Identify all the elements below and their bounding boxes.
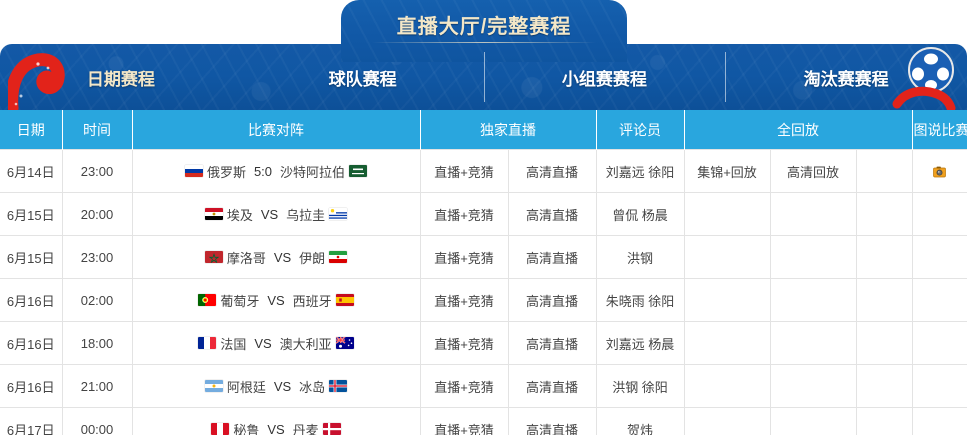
match-replay-extra-cell <box>856 193 912 236</box>
tab-team-schedule[interactable]: 球队赛程 <box>242 44 484 110</box>
match-time-cell: 23:00 <box>62 236 132 279</box>
match-live-betting-cell[interactable]: 直播+竞猜 <box>420 236 508 279</box>
match-replay-extra-cell <box>856 322 912 365</box>
column-header-full-replay: 全回放 <box>684 110 912 150</box>
table-row: 6月17日00:00秘鲁VS丹麦直播+竞猜高清直播贺炜 <box>0 408 967 435</box>
match-matchup-cell[interactable]: 阿根廷VS冰岛 <box>132 365 420 408</box>
match-hd-live-cell[interactable]: 高清直播 <box>508 408 596 435</box>
column-header-exclusive-live: 独家直播 <box>420 110 596 150</box>
match-live-betting-cell[interactable]: 直播+竞猜 <box>420 279 508 322</box>
match-commentators-cell: 刘嘉远 杨晨 <box>596 322 684 365</box>
match-vs-separator: VS <box>250 336 275 351</box>
matchup-inner: 秘鲁VS丹麦 <box>211 420 340 435</box>
away-team-name: 乌拉圭 <box>285 205 326 224</box>
match-matchup-cell[interactable]: 摩洛哥VS伊朗 <box>132 236 420 279</box>
match-matchup-cell[interactable]: 葡萄牙VS西班牙 <box>132 279 420 322</box>
flag-peru-icon <box>211 423 229 435</box>
match-vs-separator: VS <box>263 293 288 308</box>
match-replay-extra-cell <box>856 150 912 193</box>
matchup-inner: 法国VS澳大利亚 <box>198 334 353 353</box>
match-time-cell: 20:00 <box>62 193 132 236</box>
home-team-name: 葡萄牙 <box>219 291 260 310</box>
flag-argentina-icon <box>205 380 223 392</box>
match-date-cell: 6月16日 <box>0 365 62 408</box>
flag-spain-icon <box>336 294 354 306</box>
column-header-time: 时间 <box>62 110 132 150</box>
match-time-cell: 21:00 <box>62 365 132 408</box>
tab-team-schedule-label: 球队赛程 <box>329 65 397 90</box>
home-team-name: 摩洛哥 <box>226 248 267 267</box>
match-live-betting-cell[interactable]: 直播+竞猜 <box>420 322 508 365</box>
flag-uruguay-icon <box>329 208 347 220</box>
match-commentators-cell: 曾侃 杨晨 <box>596 193 684 236</box>
match-date-cell: 6月14日 <box>0 150 62 193</box>
match-picture-story-cell <box>912 322 967 365</box>
photo-gallery-icon[interactable] <box>933 164 946 179</box>
match-date-cell: 6月16日 <box>0 322 62 365</box>
match-hd-replay-cell[interactable]: 高清回放 <box>770 150 856 193</box>
match-commentators-cell: 洪钢 徐阳 <box>596 365 684 408</box>
match-hd-live-cell[interactable]: 高清直播 <box>508 322 596 365</box>
match-hd-replay-cell <box>770 322 856 365</box>
match-commentators-cell: 贺炜 <box>596 408 684 435</box>
match-hd-live-cell[interactable]: 高清直播 <box>508 193 596 236</box>
page-banner: 直播大厅/完整赛程 <box>0 0 967 110</box>
match-date-cell: 6月15日 <box>0 236 62 279</box>
flag-iran-icon <box>329 251 347 263</box>
away-team-name: 伊朗 <box>298 248 326 267</box>
match-replay-extra-cell <box>856 279 912 322</box>
matchup-inner: 葡萄牙VS西班牙 <box>198 291 353 310</box>
table-row: 6月14日23:00俄罗斯5:0沙特阿拉伯直播+竞猜高清直播刘嘉远 徐阳集锦+回… <box>0 150 967 193</box>
home-team-name: 埃及 <box>226 205 254 224</box>
match-picture-story-cell <box>912 236 967 279</box>
away-team-name: 澳大利亚 <box>279 334 333 353</box>
match-hd-live-cell[interactable]: 高清直播 <box>508 150 596 193</box>
match-date-cell: 6月15日 <box>0 193 62 236</box>
home-team-name: 秘鲁 <box>232 420 260 435</box>
tab-knockout-schedule-label: 淘汰赛赛程 <box>804 65 889 90</box>
tab-knockout-schedule[interactable]: 淘汰赛赛程 <box>725 44 967 110</box>
match-highlights-replay-cell <box>684 408 770 435</box>
matchup-inner: 埃及VS乌拉圭 <box>205 205 347 224</box>
match-hd-replay-cell <box>770 193 856 236</box>
tab-date-schedule-label: 日期赛程 <box>87 65 155 90</box>
match-score: 5:0 <box>250 164 276 179</box>
table-row: 6月16日18:00法国VS澳大利亚直播+竞猜高清直播刘嘉远 杨晨 <box>0 322 967 365</box>
schedule-nav-tabs: 日期赛程 球队赛程 小组赛赛程 淘汰赛赛程 <box>0 44 967 110</box>
flag-portugal-icon <box>198 294 216 306</box>
match-highlights-replay-cell <box>684 365 770 408</box>
matchup-inner: 摩洛哥VS伊朗 <box>205 248 347 267</box>
table-header-row: 日期 时间 比赛对阵 独家直播 评论员 全回放 图说比赛 <box>0 110 967 150</box>
match-highlights-replay-cell[interactable]: 集锦+回放 <box>684 150 770 193</box>
away-team-name: 西班牙 <box>292 291 333 310</box>
flag-morocco-icon <box>205 251 223 263</box>
column-header-date: 日期 <box>0 110 62 150</box>
match-matchup-cell[interactable]: 法国VS澳大利亚 <box>132 322 420 365</box>
column-header-matchup: 比赛对阵 <box>132 110 420 150</box>
schedule-page: 直播大厅/完整赛程 <box>0 0 967 435</box>
match-time-cell: 02:00 <box>62 279 132 322</box>
match-replay-extra-cell <box>856 408 912 435</box>
match-commentators-cell: 朱晓雨 徐阳 <box>596 279 684 322</box>
match-picture-story-cell <box>912 193 967 236</box>
match-live-betting-cell[interactable]: 直播+竞猜 <box>420 408 508 435</box>
match-hd-live-cell[interactable]: 高清直播 <box>508 236 596 279</box>
match-live-betting-cell[interactable]: 直播+竞猜 <box>420 150 508 193</box>
title-underline-divider <box>372 42 596 43</box>
flag-saudi-arabia-icon <box>349 165 367 177</box>
matchup-inner: 俄罗斯5:0沙特阿拉伯 <box>185 162 367 181</box>
match-live-betting-cell[interactable]: 直播+竞猜 <box>420 365 508 408</box>
match-schedule-body: 6月14日23:00俄罗斯5:0沙特阿拉伯直播+竞猜高清直播刘嘉远 徐阳集锦+回… <box>0 150 967 435</box>
flag-russia-icon <box>185 165 203 177</box>
match-time-cell: 00:00 <box>62 408 132 435</box>
match-date-cell: 6月16日 <box>0 279 62 322</box>
match-vs-separator: VS <box>257 207 282 222</box>
match-date-cell: 6月17日 <box>0 408 62 435</box>
match-time-cell: 23:00 <box>62 150 132 193</box>
match-vs-separator: VS <box>270 250 295 265</box>
match-schedule-table: 日期 时间 比赛对阵 独家直播 评论员 全回放 图说比赛 6月14日23:00俄… <box>0 110 967 435</box>
match-matchup-cell[interactable]: 埃及VS乌拉圭 <box>132 193 420 236</box>
match-highlights-replay-cell <box>684 236 770 279</box>
matchup-inner: 阿根廷VS冰岛 <box>205 377 347 396</box>
column-header-picture-story: 图说比赛 <box>912 110 967 150</box>
match-hd-replay-cell <box>770 408 856 435</box>
tab-date-schedule[interactable]: 日期赛程 <box>0 44 242 110</box>
match-vs-separator: VS <box>263 422 288 435</box>
match-picture-story-cell <box>912 365 967 408</box>
column-header-commentators: 评论员 <box>596 110 684 150</box>
match-hd-live-cell[interactable]: 高清直播 <box>508 365 596 408</box>
away-team-name: 冰岛 <box>298 377 326 396</box>
tab-group-stage-schedule-label: 小组赛赛程 <box>562 65 647 90</box>
match-replay-extra-cell <box>856 365 912 408</box>
match-replay-extra-cell <box>856 236 912 279</box>
page-title: 直播大厅/完整赛程 <box>341 10 627 39</box>
match-picture-story-cell[interactable] <box>912 150 967 193</box>
tab-group-stage-schedule[interactable]: 小组赛赛程 <box>484 44 726 110</box>
home-team-name: 俄罗斯 <box>206 162 247 181</box>
match-vs-separator: VS <box>270 379 295 394</box>
table-row: 6月15日23:00摩洛哥VS伊朗直播+竞猜高清直播洪钢 <box>0 236 967 279</box>
home-team-name: 法国 <box>219 334 247 353</box>
match-matchup-cell[interactable]: 俄罗斯5:0沙特阿拉伯 <box>132 150 420 193</box>
table-row: 6月15日20:00埃及VS乌拉圭直播+竞猜高清直播曾侃 杨晨 <box>0 193 967 236</box>
away-team-name: 丹麦 <box>292 420 320 435</box>
match-picture-story-cell <box>912 408 967 435</box>
table-row: 6月16日21:00阿根廷VS冰岛直播+竞猜高清直播洪钢 徐阳 <box>0 365 967 408</box>
match-hd-replay-cell <box>770 365 856 408</box>
match-matchup-cell[interactable]: 秘鲁VS丹麦 <box>132 408 420 435</box>
match-hd-replay-cell <box>770 279 856 322</box>
match-highlights-replay-cell <box>684 322 770 365</box>
flag-denmark-icon <box>323 423 341 435</box>
match-highlights-replay-cell <box>684 193 770 236</box>
match-hd-live-cell[interactable]: 高清直播 <box>508 279 596 322</box>
match-time-cell: 18:00 <box>62 322 132 365</box>
away-team-name: 沙特阿拉伯 <box>279 162 346 181</box>
flag-egypt-icon <box>205 208 223 220</box>
flag-france-icon <box>198 337 216 349</box>
match-live-betting-cell[interactable]: 直播+竞猜 <box>420 193 508 236</box>
match-highlights-replay-cell <box>684 279 770 322</box>
flag-iceland-icon <box>329 380 347 392</box>
match-picture-story-cell <box>912 279 967 322</box>
match-commentators-cell: 刘嘉远 徐阳 <box>596 150 684 193</box>
match-hd-replay-cell <box>770 236 856 279</box>
flag-australia-icon <box>336 337 354 349</box>
match-commentators-cell: 洪钢 <box>596 236 684 279</box>
home-team-name: 阿根廷 <box>226 377 267 396</box>
table-row: 6月16日02:00葡萄牙VS西班牙直播+竞猜高清直播朱晓雨 徐阳 <box>0 279 967 322</box>
